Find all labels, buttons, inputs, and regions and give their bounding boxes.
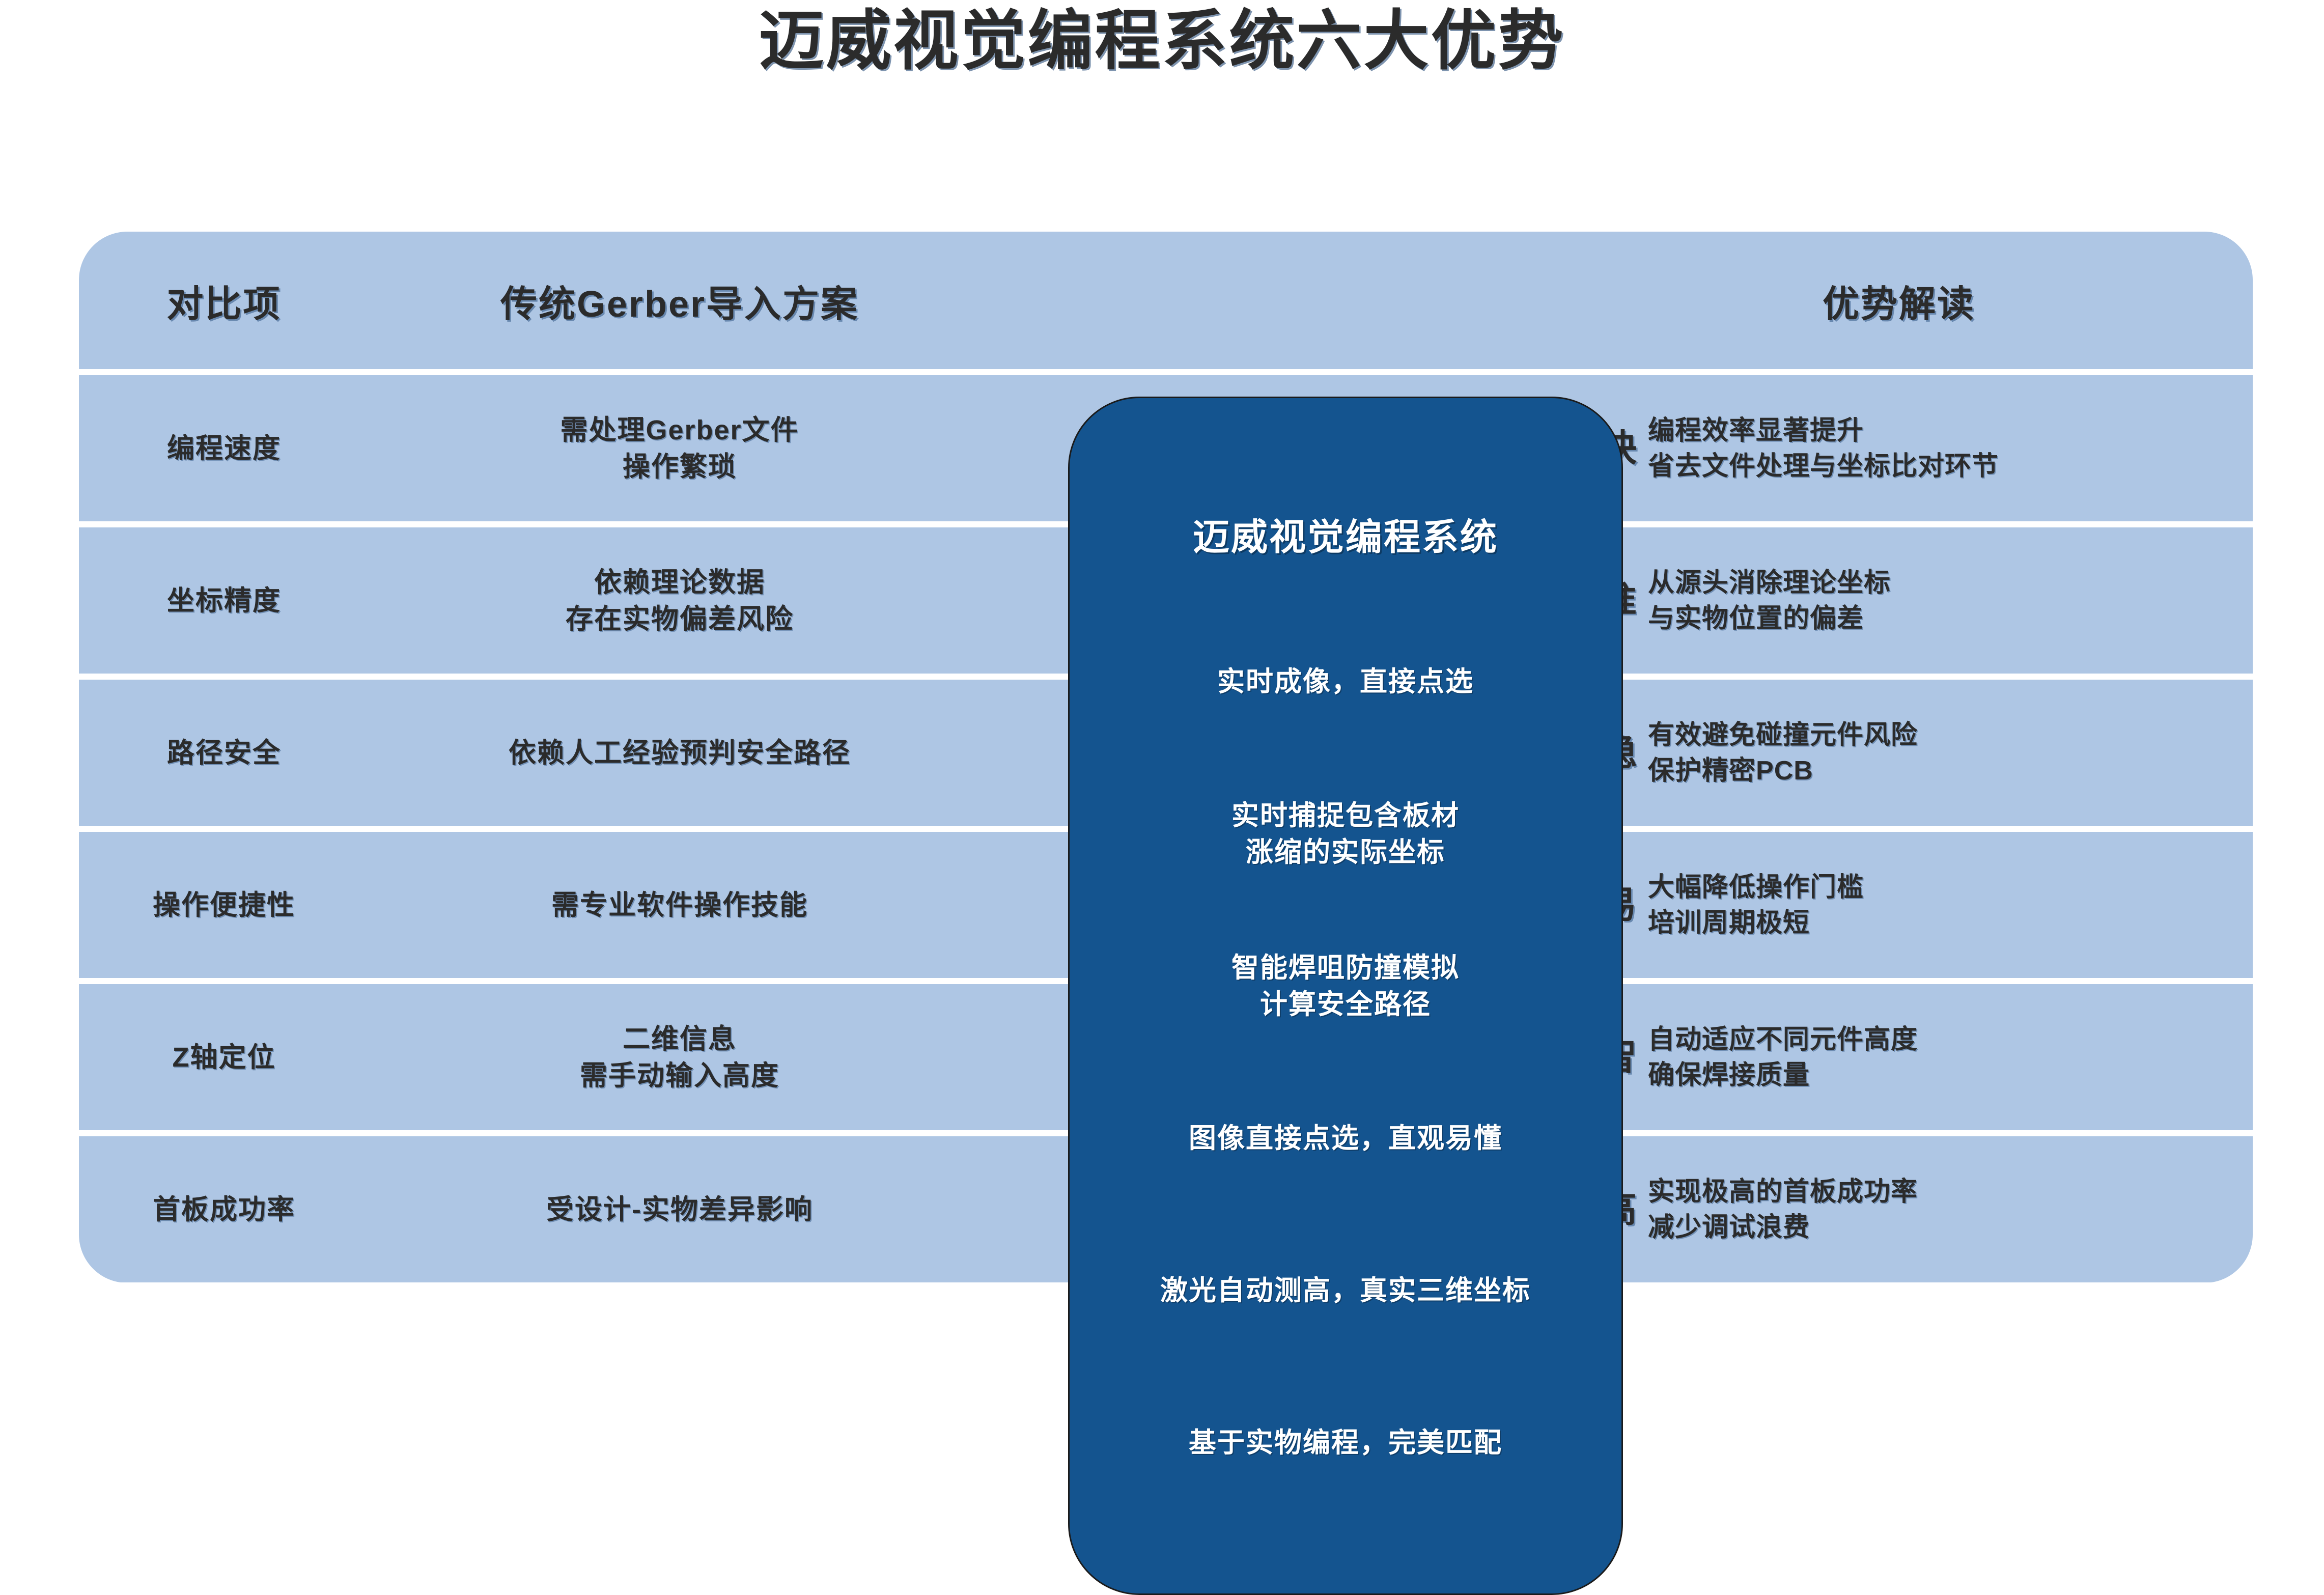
row-legacy-cell: 需专业软件操作技能 <box>369 832 990 978</box>
advantage-line-1: 实现极高的首板成功率 <box>1648 1177 1918 1207</box>
advantage-line-2: 保护精密PCB <box>1648 753 1918 789</box>
table-header-row: 对比项 传统Gerber导入方案 优势解读 <box>79 232 2253 369</box>
advantage-line-2: 减少调试浪费 <box>1648 1210 1918 1245</box>
row-advantage-cell: 易 大幅降低操作门槛 培训周期极短 <box>1545 832 2253 978</box>
row-item-cell: 编程速度 <box>79 375 369 521</box>
row-legacy-text: 需处理Gerber文件 操作繁琐 <box>560 412 799 485</box>
advantage-group: 稳 有效避免碰撞元件风险 保护精密PCB <box>1545 717 2253 789</box>
highlight-header-label: 迈威视觉编程系统 <box>1193 507 1498 561</box>
advantage-line-1: 自动适应不同元件高度 <box>1648 1025 1918 1054</box>
advantage-description: 自动适应不同元件高度 确保焊接质量 <box>1648 1022 1918 1093</box>
highlight-cell-text: 实时成像，直接点选 <box>1217 663 1474 700</box>
row-item-cell: Z轴定位 <box>79 984 369 1130</box>
row-item-cell: 坐标精度 <box>79 527 369 674</box>
advantage-line-1: 编程效率显著提升 <box>1648 416 1864 445</box>
row-item-label: Z轴定位 <box>173 1039 276 1076</box>
row-item-label: 编程速度 <box>167 430 281 467</box>
row-item-label: 操作便捷性 <box>153 887 295 924</box>
header-cell-advantage: 优势解读 <box>1545 232 2253 369</box>
row-advantage-cell: 快 编程效率显著提升 省去文件处理与坐标比对环节 <box>1545 375 2253 521</box>
comparison-table-wrapper: 对比项 传统Gerber导入方案 优势解读 编程速度 需处理Gerber文件 操… <box>79 232 2253 1283</box>
maiwei-line-2: 涨缩的实际坐标 <box>1246 837 1445 868</box>
highlight-cell: 图像直接点选，直观易懂 <box>1070 1065 1621 1211</box>
highlight-cell-text: 实时捕捉包含板材 涨缩的实际坐标 <box>1231 797 1460 871</box>
row-item-cell: 路径安全 <box>79 680 369 826</box>
advantage-line-2: 省去文件处理与坐标比对环节 <box>1648 449 1999 484</box>
advantage-line-2: 培训周期极短 <box>1648 905 1864 941</box>
highlight-cell: 实时成像，直接点选 <box>1070 608 1621 754</box>
highlight-column-maiwei: 迈威视觉编程系统 实时成像，直接点选 实时捕捉包含板材 涨缩的实际坐标 智能焊咀… <box>1068 397 1623 1595</box>
advantage-line-2: 与实物位置的偏差 <box>1648 601 1891 636</box>
page-title: 迈威视觉编程系统六大优势 <box>0 0 2324 78</box>
row-legacy-cell: 依赖理论数据 存在实物偏差风险 <box>369 527 990 674</box>
row-item-cell: 操作便捷性 <box>79 832 369 978</box>
advantage-description: 有效避免碰撞元件风险 保护精密PCB <box>1648 717 1918 789</box>
advantage-description: 实现极高的首板成功率 减少调试浪费 <box>1648 1174 1918 1245</box>
legacy-line-2: 存在实物偏差风险 <box>566 604 794 634</box>
legacy-line-2: 需手动输入高度 <box>580 1060 779 1091</box>
advantage-line-1: 有效避免碰撞元件风险 <box>1648 720 1918 750</box>
row-advantage-cell: 高 实现极高的首板成功率 减少调试浪费 <box>1545 1136 2253 1282</box>
row-advantage-cell: 稳 有效避免碰撞元件风险 保护精密PCB <box>1545 680 2253 826</box>
advantage-description: 编程效率显著提升 省去文件处理与坐标比对环节 <box>1648 413 1999 484</box>
row-legacy-text: 受设计-实物差异影响 <box>546 1191 813 1228</box>
row-legacy-cell: 二维信息 需手动输入高度 <box>369 984 990 1130</box>
header-cell-legacy: 传统Gerber导入方案 <box>369 232 990 369</box>
advantage-line-1: 从源头消除理论坐标 <box>1648 568 1891 598</box>
highlight-cell: 实时捕捉包含板材 涨缩的实际坐标 <box>1070 761 1621 907</box>
highlight-column-content: 迈威视觉编程系统 实时成像，直接点选 实时捕捉包含板材 涨缩的实际坐标 智能焊咀… <box>1070 398 1621 1593</box>
advantage-line-2: 确保焊接质量 <box>1648 1057 1918 1093</box>
advantage-group: 准 从源头消除理论坐标 与实物位置的偏差 <box>1545 565 2253 636</box>
advantage-group: 高 实现极高的首板成功率 减少调试浪费 <box>1545 1174 2253 1245</box>
row-advantage-cell: 准 从源头消除理论坐标 与实物位置的偏差 <box>1545 527 2253 674</box>
highlight-cell: 基于实物编程，完美匹配 <box>1070 1369 1621 1516</box>
row-legacy-cell: 受设计-实物差异影响 <box>369 1136 990 1282</box>
advantage-group: 智 自动适应不同元件高度 确保焊接质量 <box>1545 1022 2253 1093</box>
highlight-header: 迈威视觉编程系统 <box>1070 465 1621 602</box>
row-legacy-text: 二维信息 需手动输入高度 <box>580 1021 779 1094</box>
highlight-cell-text: 基于实物编程，完美匹配 <box>1189 1424 1502 1461</box>
highlight-cell: 智能焊咀防撞模拟 计算安全路径 <box>1070 913 1621 1059</box>
row-legacy-cell: 需处理Gerber文件 操作繁琐 <box>369 375 990 521</box>
advantage-group: 易 大幅降低操作门槛 培训周期极短 <box>1545 870 2253 941</box>
row-legacy-text: 依赖人工经验预判安全路径 <box>509 735 851 771</box>
row-legacy-text: 需专业软件操作技能 <box>551 887 808 924</box>
header-label-advantage: 优势解读 <box>1823 274 1975 327</box>
row-item-cell: 首板成功率 <box>79 1136 369 1282</box>
row-item-label: 首板成功率 <box>153 1191 295 1228</box>
legacy-line-1: 依赖理论数据 <box>594 567 765 598</box>
legacy-line-2: 操作繁琐 <box>623 452 737 482</box>
row-legacy-text: 依赖理论数据 存在实物偏差风险 <box>566 564 794 637</box>
row-item-label: 路径安全 <box>167 735 281 771</box>
row-legacy-cell: 依赖人工经验预判安全路径 <box>369 680 990 826</box>
legacy-line-1: 需处理Gerber文件 <box>560 415 799 445</box>
row-item-label: 坐标精度 <box>167 582 281 619</box>
advantage-line-1: 大幅降低操作门槛 <box>1648 873 1864 902</box>
header-cell-maiwei <box>990 232 1545 369</box>
row-advantage-cell: 智 自动适应不同元件高度 确保焊接质量 <box>1545 984 2253 1130</box>
legacy-line-1: 二维信息 <box>623 1024 737 1054</box>
highlight-cell-text: 智能焊咀防撞模拟 计算安全路径 <box>1231 949 1460 1023</box>
advantage-group: 快 编程效率显著提升 省去文件处理与坐标比对环节 <box>1545 413 2253 484</box>
highlight-cell-text: 图像直接点选，直观易懂 <box>1189 1120 1502 1157</box>
maiwei-line-1: 实时捕捉包含板材 <box>1231 800 1460 831</box>
header-label-item: 对比项 <box>166 274 281 327</box>
highlight-cell: 激光自动测高，真实三维坐标 <box>1070 1217 1621 1363</box>
maiwei-line-1: 智能焊咀防撞模拟 <box>1231 953 1460 983</box>
header-cell-item: 对比项 <box>79 232 369 369</box>
header-label-legacy: 传统Gerber导入方案 <box>500 274 859 327</box>
advantage-description: 大幅降低操作门槛 培训周期极短 <box>1648 870 1864 941</box>
maiwei-line-2: 计算安全路径 <box>1260 989 1431 1020</box>
advantage-description: 从源头消除理论坐标 与实物位置的偏差 <box>1648 565 1891 636</box>
highlight-cell-text: 激光自动测高，真实三维坐标 <box>1160 1272 1531 1309</box>
